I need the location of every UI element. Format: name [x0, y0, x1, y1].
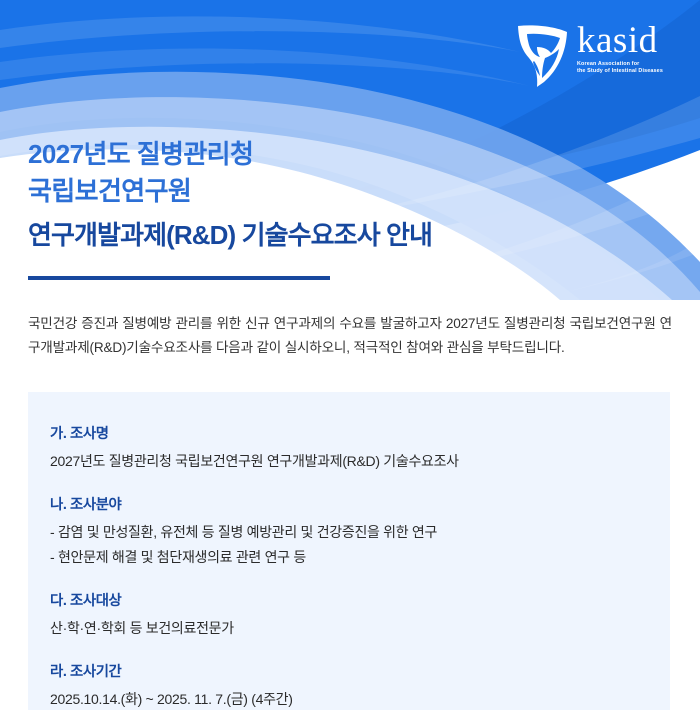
section-body-line: 2027년도 질병관리청 국립보건연구원 연구개발과제(R&D) 기술수요조사 [50, 449, 670, 474]
section-survey-period: 라. 조사기간 2025.10.14.(화) ~ 2025. 11. 7.(금)… [50, 660, 670, 710]
section-heading: 다. 조사대상 [50, 589, 670, 613]
section-survey-fields: 나. 조사분야 - 감염 및 만성질환, 유전체 등 질병 예방관리 및 건강증… [50, 493, 670, 570]
section-body-line: - 감염 및 만성질환, 유전체 등 질병 예방관리 및 건강증진을 위한 연구 [50, 520, 670, 545]
intro-paragraph: 국민건강 증진과 질병예방 관리를 위한 신규 연구과제의 수요를 발굴하고자 … [28, 312, 672, 360]
logo-wordmark: kasid [577, 24, 663, 57]
title-line-1: 2027년도 질병관리청 [28, 136, 498, 173]
section-survey-name: 가. 조사명 2027년도 질병관리청 국립보건연구원 연구개발과제(R&D) … [50, 422, 670, 474]
section-heading: 가. 조사명 [50, 422, 670, 446]
page-title: 2027년도 질병관리청 국립보건연구원 연구개발과제(R&D) 기술수요조사 … [28, 136, 498, 253]
title-divider [28, 276, 330, 280]
section-body-line: 2025.10.14.(화) ~ 2025. 11. 7.(금) (4주간) [50, 687, 670, 710]
notice-page: kasid Korean Association for the Study o… [0, 0, 700, 710]
section-body-line: - 현안문제 해결 및 첨단재생의료 관련 연구 등 [50, 545, 670, 570]
section-body-line: 산·학·연·학회 등 보건의료전문가 [50, 616, 670, 641]
title-line-2: 국립보건연구원 [28, 173, 498, 210]
section-heading: 나. 조사분야 [50, 493, 670, 517]
title-line-3: 연구개발과제(R&D) 기술수요조사 안내 [28, 217, 498, 253]
logo-tagline: Korean Association for the Study of Inte… [577, 61, 663, 76]
section-survey-target: 다. 조사대상 산·학·연·학회 등 보건의료전문가 [50, 589, 670, 641]
kasid-logo: kasid Korean Association for the Study o… [514, 22, 674, 90]
kasid-shield-leaf-icon [514, 22, 570, 88]
details-panel: 가. 조사명 2027년도 질병관리청 국립보건연구원 연구개발과제(R&D) … [28, 392, 670, 710]
section-heading: 라. 조사기간 [50, 660, 670, 684]
